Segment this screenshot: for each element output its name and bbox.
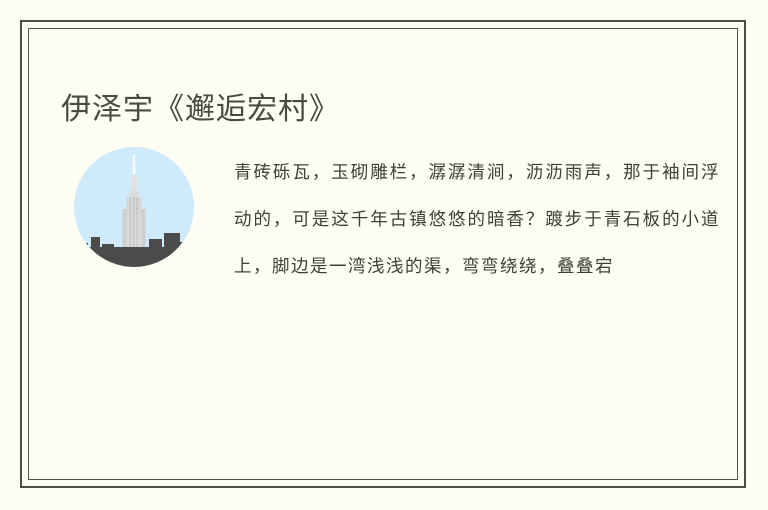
article-paragraph: 青砖砾瓦，玉砌雕栏，潺潺清涧，沥沥雨声，那于袖间浮动的，可是这千年古镇悠悠的暗香… [234, 150, 720, 291]
city-skyline-tower-illustration-icon [74, 147, 194, 267]
decorative-page-frame: 伊泽宇《邂逅宏村》 [20, 20, 746, 488]
article-thumbnail [74, 147, 194, 267]
page-title: 伊泽宇《邂逅宏村》 [61, 90, 340, 130]
article-content: 伊泽宇《邂逅宏村》 [22, 22, 748, 490]
article-body-block: 青砖砾瓦，玉砌雕栏，潺潺清涧，沥沥雨声，那于袖间浮动的，可是这千年古镇悠悠的暗香… [54, 132, 720, 308]
